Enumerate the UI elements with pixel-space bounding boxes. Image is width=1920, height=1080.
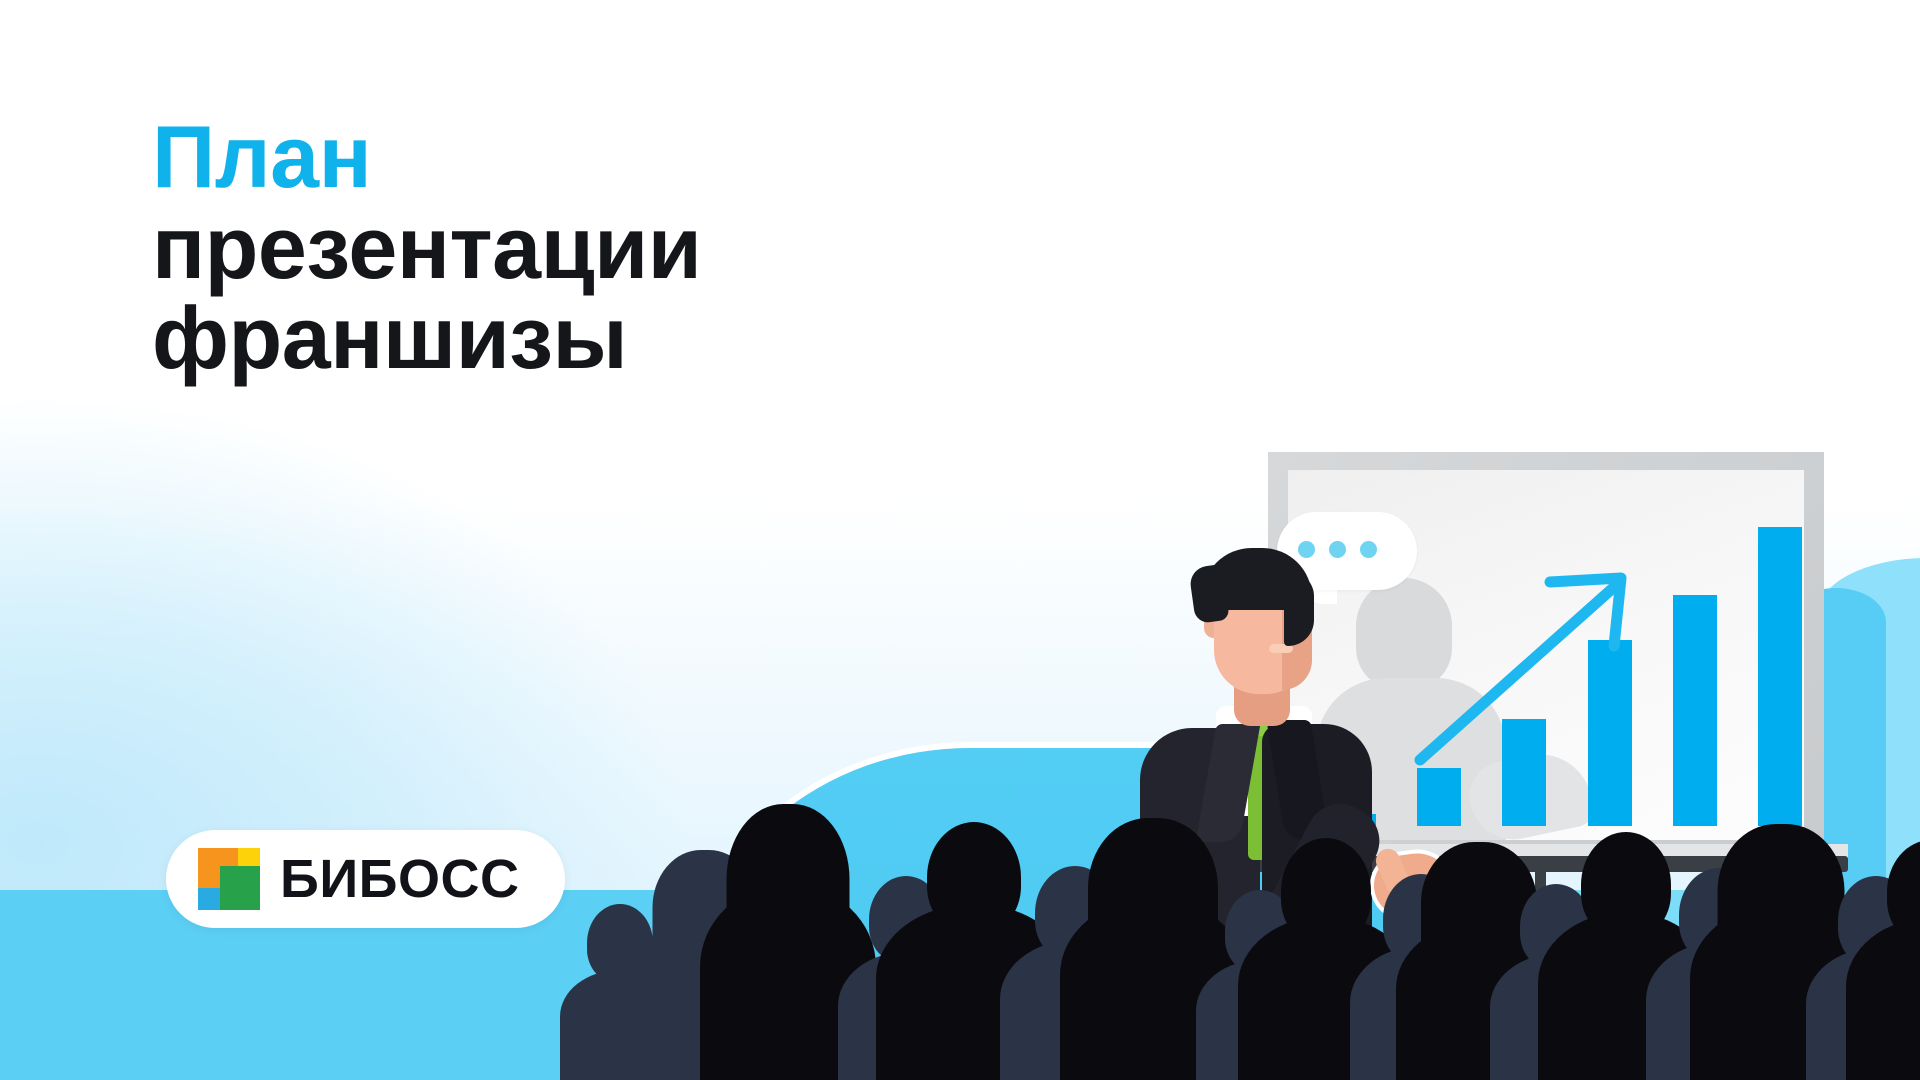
title-line-3: франшизы [152,293,912,384]
bar-3 [1502,719,1546,826]
audience-person [1846,828,1920,1080]
audience-person [560,880,680,1080]
slide-title: План презентации франшизы [152,112,912,384]
bar-5 [1673,595,1717,826]
audience-body [1846,918,1920,1080]
presentation-slide: План презентации франшизы БИБОСС [0,0,1920,1080]
audience-silhouettes [0,820,1920,1080]
title-line-1: План [152,112,912,203]
audience-body [560,970,680,1080]
bar-4 [1588,640,1632,826]
bar-6 [1758,527,1802,826]
title-line-2: презентации [152,203,912,294]
